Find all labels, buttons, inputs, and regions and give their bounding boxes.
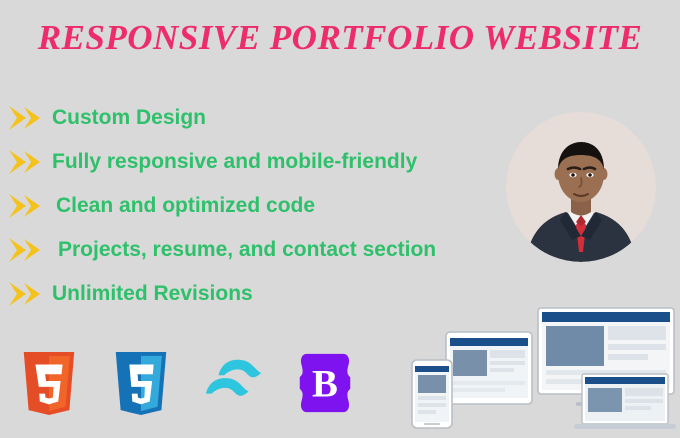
arrow-right-icon: [8, 105, 42, 131]
avatar: [506, 112, 656, 262]
tailwind-icon: [202, 350, 264, 416]
profile-photo: [506, 112, 656, 262]
bootstrap-icon: B: [294, 350, 356, 416]
device-phone: [412, 360, 452, 428]
list-item-label: Clean and optimized code: [56, 194, 315, 218]
arrow-right-icon: [8, 237, 42, 263]
responsive-devices-mockup: [386, 302, 676, 432]
css3-icon: [110, 350, 172, 416]
html5-icon: [18, 350, 80, 416]
list-item: Clean and optimized code: [8, 184, 508, 228]
device-tablet: [446, 332, 532, 404]
list-item-label: Projects, resume, and contact section: [58, 238, 436, 262]
arrow-right-icon: [8, 149, 42, 175]
tech-stack-icons: B: [18, 350, 356, 416]
arrow-right-icon: [8, 193, 42, 219]
arrow-right-icon: [8, 281, 42, 307]
device-laptop: [574, 374, 676, 429]
list-item-label: Custom Design: [52, 106, 206, 130]
list-item-label: Unlimited Revisions: [52, 282, 253, 306]
feature-list: Custom Design Fully responsive and mobil…: [8, 96, 508, 316]
poster-canvas: RESPONSIVE PORTFOLIO WEBSITE Custom Desi…: [0, 0, 680, 438]
list-item: Fully responsive and mobile-friendly: [8, 140, 508, 184]
list-item: Custom Design: [8, 96, 508, 140]
list-item: Projects, resume, and contact section: [8, 228, 508, 272]
devices-illustration: [386, 302, 676, 432]
page-title: RESPONSIVE PORTFOLIO WEBSITE: [0, 18, 680, 58]
svg-text:B: B: [312, 363, 338, 406]
list-item-label: Fully responsive and mobile-friendly: [52, 150, 417, 174]
